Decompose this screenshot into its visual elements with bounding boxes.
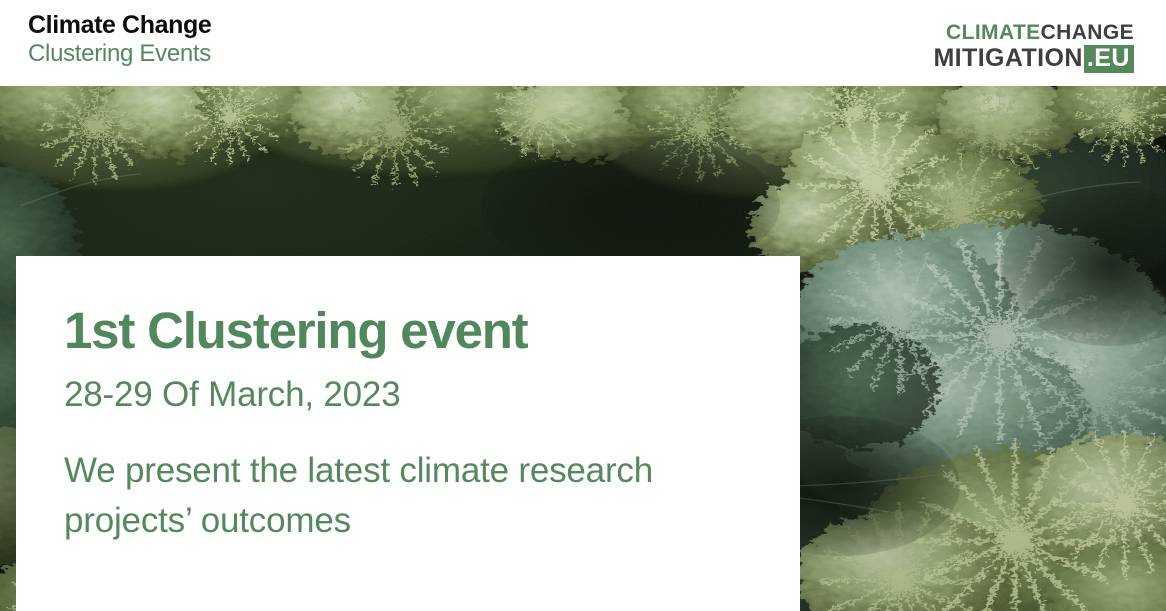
event-title: 1st Clustering event xyxy=(64,302,740,360)
brand-primary-title: Climate Change xyxy=(28,11,211,40)
event-description: We present the latest climate research p… xyxy=(64,446,704,546)
event-date: 28-29 Of March, 2023 xyxy=(64,374,740,416)
logo-tld-badge: .EU xyxy=(1084,45,1134,73)
logo-bottom-row: MITIGATION.EU xyxy=(933,45,1134,73)
brand-title-block: Climate Change Clustering Events xyxy=(28,11,211,68)
climatechangemitigation-eu-logo[interactable]: CLIMATECHANGE MITIGATION.EU xyxy=(933,21,1134,73)
logo-word-change: CHANGE xyxy=(1041,21,1134,44)
logo-top-row: CLIMATECHANGE xyxy=(933,21,1134,44)
logo-word-mitigation: MITIGATION xyxy=(933,44,1082,72)
event-banner-page: Climate Change Clustering Events CLIMATE… xyxy=(0,0,1166,611)
event-info-card: 1st Clustering event 28-29 Of March, 202… xyxy=(16,256,800,611)
brand-secondary-title: Clustering Events xyxy=(28,40,211,68)
site-header: Climate Change Clustering Events CLIMATE… xyxy=(0,0,1166,86)
logo-word-climate: CLIMATE xyxy=(946,21,1041,44)
hero-section: 1st Clustering event 28-29 Of March, 202… xyxy=(0,86,1166,611)
